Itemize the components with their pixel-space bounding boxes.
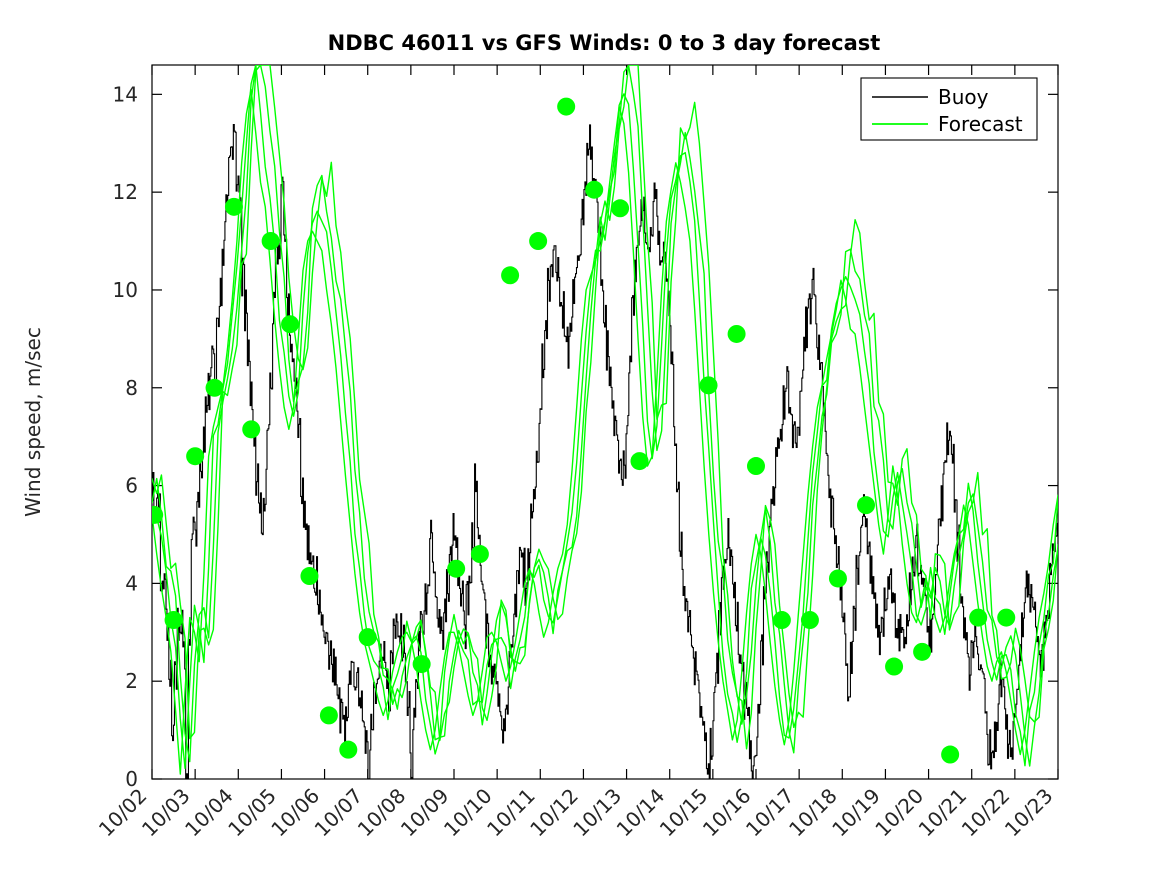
y-tick-label: 8	[125, 376, 138, 400]
forecast-marker-dot	[165, 611, 183, 629]
forecast-marker-dot	[700, 376, 718, 394]
x-tick-label: 10/16	[698, 784, 756, 842]
x-tick-label: 10/11	[482, 784, 540, 842]
chart-figure: NDBC 46011 vs GFS Winds: 0 to 3 day fore…	[0, 0, 1167, 875]
x-tick-label: 10/22	[957, 784, 1015, 842]
y-tick-label: 14	[113, 82, 138, 106]
legend-label-buoy: Buoy	[938, 85, 989, 109]
forecast-marker-dot	[885, 658, 903, 676]
forecast-marker-dot	[631, 452, 649, 470]
forecast-marker-dot	[262, 232, 280, 250]
forecast-marker-dot	[447, 560, 465, 578]
x-tick-label: 10/10	[439, 784, 497, 842]
y-tick-label: 10	[113, 278, 138, 302]
y-tick-label: 4	[125, 571, 138, 595]
forecast-marker-dot	[611, 199, 629, 217]
forecast-marker-dot	[206, 379, 224, 397]
forecast-marker-dot	[557, 98, 575, 116]
forecast-marker-dot	[969, 609, 987, 627]
x-tick-label: 10/23	[1000, 784, 1058, 842]
x-tick-label: 10/15	[655, 784, 713, 842]
y-tick-label: 12	[113, 180, 138, 204]
x-tick-label: 10/21	[914, 784, 972, 842]
x-tick-label: 10/20	[870, 784, 928, 842]
forecast-marker-dot	[300, 567, 318, 585]
forecast-marker-dot	[471, 545, 489, 563]
forecast-member-line	[152, 89, 1058, 774]
y-axis-label: Wind speed, m/sec	[21, 327, 45, 517]
forecast-marker-dot	[829, 569, 847, 587]
legend-label-forecast: Forecast	[938, 112, 1023, 136]
x-tick-label: 10/13	[568, 784, 626, 842]
forecast-marker-dot	[747, 457, 765, 475]
forecast-marker-dot	[145, 506, 163, 524]
y-tick-label: 2	[125, 669, 138, 693]
forecast-marker-dot	[501, 266, 519, 284]
series-forecast-lines	[152, 65, 1058, 774]
x-tick-label: 10/07	[310, 784, 368, 842]
forecast-member-line	[152, 65, 1058, 768]
x-tick-label: 10/14	[612, 784, 670, 842]
forecast-marker-dot	[320, 706, 338, 724]
x-tick-label: 10/12	[525, 784, 583, 842]
forecast-marker-dot	[242, 420, 260, 438]
x-tick-label: 10/08	[353, 784, 411, 842]
forecast-marker-dot	[773, 611, 791, 629]
forecast-marker-dot	[413, 655, 431, 673]
page-title: NDBC 46011 vs GFS Winds: 0 to 3 day fore…	[328, 31, 881, 55]
y-tick-label: 6	[125, 474, 138, 498]
forecast-marker-dot	[913, 643, 931, 661]
forecast-marker-dot	[801, 611, 819, 629]
forecast-marker-dot	[857, 496, 875, 514]
legend: Buoy Forecast	[861, 78, 1037, 140]
x-tick-label: 10/18	[784, 784, 842, 842]
forecast-marker-dot	[529, 232, 547, 250]
forecast-marker-dot	[997, 609, 1015, 627]
forecast-marker-dot	[339, 741, 357, 759]
x-tick-label: 10/03	[137, 784, 195, 842]
forecast-marker-dot	[728, 325, 746, 343]
chart-svg: NDBC 46011 vs GFS Winds: 0 to 3 day fore…	[0, 0, 1167, 875]
x-tick-label: 10/06	[266, 784, 324, 842]
forecast-marker-dot	[941, 746, 959, 764]
x-tick-label: 10/17	[741, 784, 799, 842]
x-tick-label: 10/02	[94, 784, 152, 842]
x-tick-label: 10/04	[180, 784, 238, 842]
forecast-marker-dot	[186, 447, 204, 465]
x-tick-label: 10/09	[396, 784, 454, 842]
forecast-marker-dot	[585, 181, 603, 199]
x-tick-label: 10/19	[827, 784, 885, 842]
forecast-marker-dot	[359, 628, 377, 646]
forecast-marker-dot	[281, 315, 299, 333]
x-tick-label: 10/05	[223, 784, 281, 842]
forecast-marker-dot	[225, 198, 243, 216]
